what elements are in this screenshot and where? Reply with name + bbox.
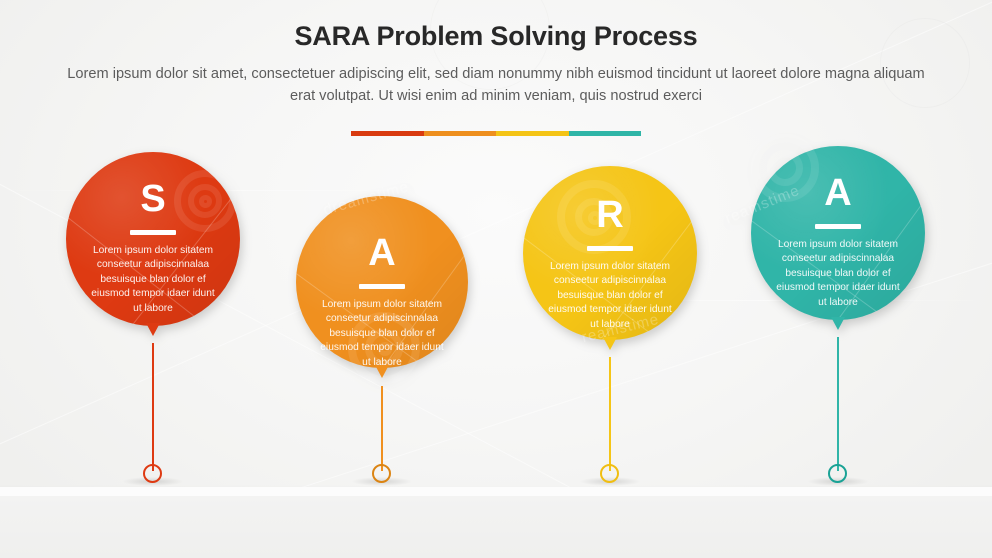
balloon-string-scanning (152, 343, 154, 471)
step-letter-underline (359, 284, 405, 289)
balloon-string-response (609, 357, 611, 471)
step-description-response: Lorem ipsum dolor sitatem conseetur adip… (523, 260, 697, 332)
step-letter-assessment: A (751, 174, 925, 212)
balloon-shape-response: reamstime R Lorem ipsum dolor sitatem co… (523, 166, 697, 340)
accent-rule-segment-4 (569, 131, 642, 136)
balloon-ring-scanning (143, 464, 162, 483)
balloon-ring-assessment (828, 464, 847, 483)
floor-surface (0, 496, 992, 558)
balloon-shape-analysis: dreamstime A Lorem ipsum dolor sitatem c… (296, 196, 468, 368)
balloon-shape-assessment: reamstime A Lorem ipsum dolor sitatem co… (751, 146, 925, 320)
floor-divider (0, 487, 992, 496)
balloon-shape-scanning: S Lorem ipsum dolor sitatem conseetur ad… (66, 152, 240, 326)
accent-rule (351, 131, 641, 136)
step-letter-analysis: A (296, 234, 468, 272)
balloon-string-assessment (837, 337, 839, 471)
step-letter-response: R (523, 196, 697, 234)
step-description-analysis: Lorem ipsum dolor sitatem conseetur adip… (296, 298, 468, 370)
accent-rule-segment-3 (496, 131, 569, 136)
page-subtitle: Lorem ipsum dolor sit amet, consectetuer… (56, 63, 936, 107)
step-letter-underline (130, 230, 176, 235)
infographic-canvas: SARA Problem Solving Process Lorem ipsum… (0, 0, 992, 558)
balloon-ring-analysis (372, 464, 391, 483)
balloon-ring-response (600, 464, 619, 483)
step-letter-underline (587, 246, 633, 251)
step-letter-underline (815, 224, 861, 229)
balloon-string-analysis (381, 386, 383, 471)
step-letter-scanning: S (66, 180, 240, 218)
accent-rule-segment-2 (424, 131, 497, 136)
step-description-scanning: Lorem ipsum dolor sitatem conseetur adip… (66, 244, 240, 316)
watermark-text: dreamstime (321, 178, 411, 219)
header: SARA Problem Solving Process Lorem ipsum… (0, 22, 992, 107)
accent-rule-segment-1 (351, 131, 424, 136)
page-title: SARA Problem Solving Process (0, 22, 992, 52)
step-description-assessment: Lorem ipsum dolor sitatem conseetur adip… (751, 238, 925, 310)
